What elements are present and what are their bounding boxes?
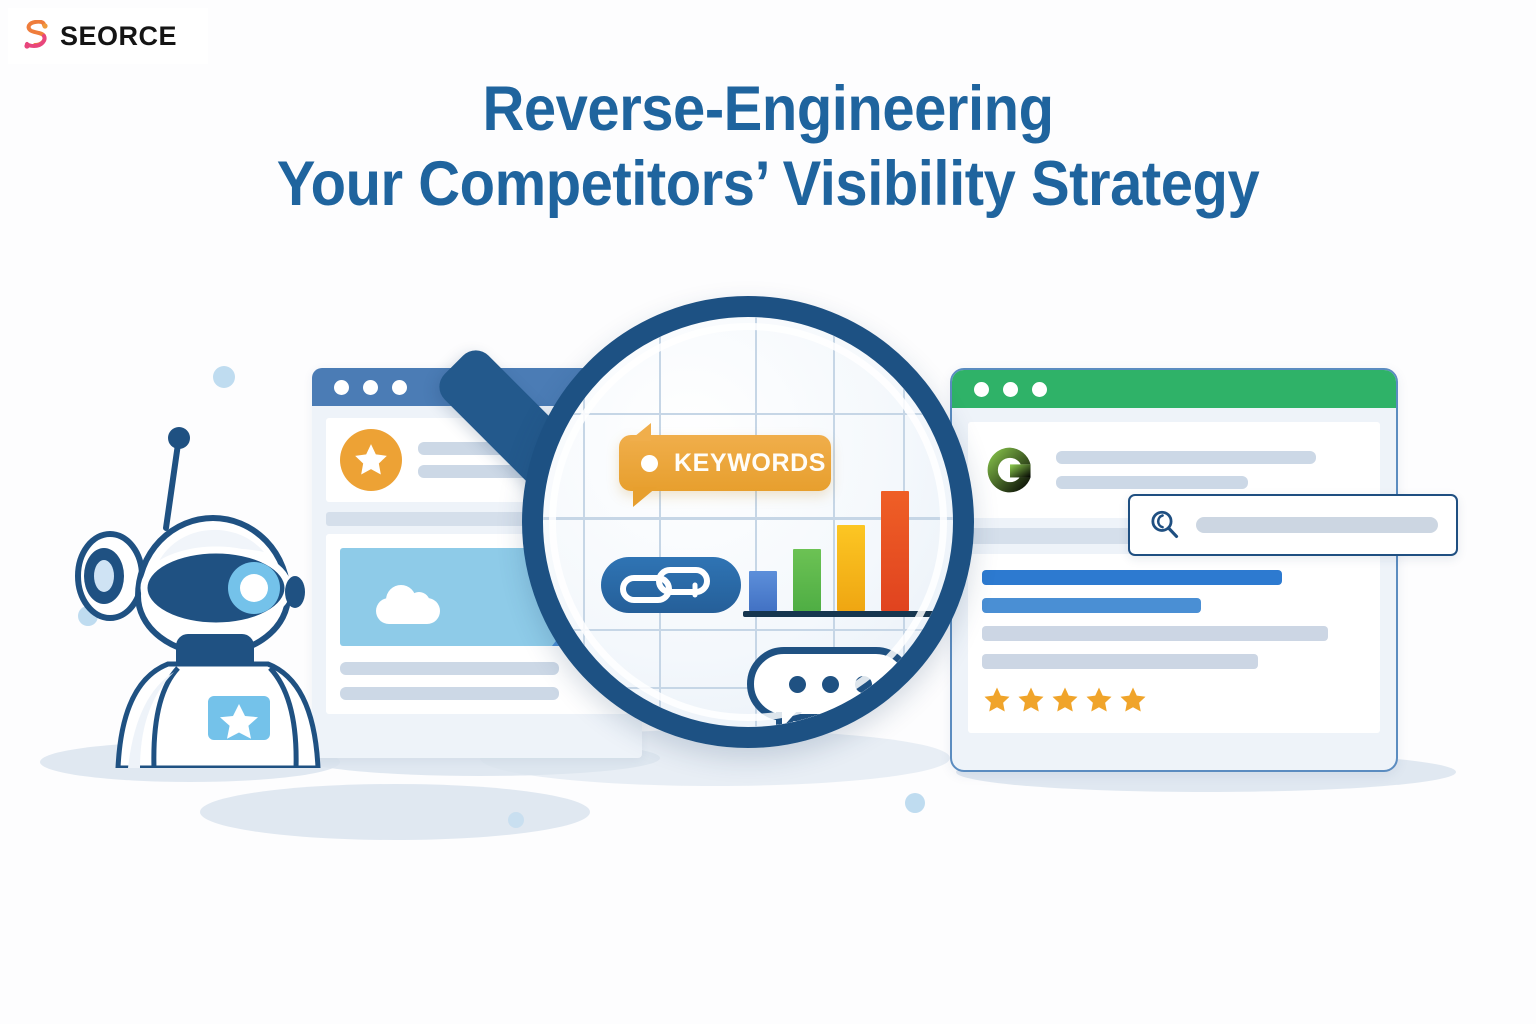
search-result-card[interactable] <box>968 554 1380 733</box>
brand-name: SEORCE <box>60 21 177 52</box>
search-bar[interactable] <box>1128 494 1458 556</box>
search-input[interactable] <box>1196 517 1438 533</box>
cloud-shape <box>376 598 440 624</box>
window-body <box>952 408 1396 747</box>
antenna-icon <box>166 427 190 528</box>
star-icon <box>1118 685 1148 715</box>
result-snippet-line <box>982 626 1328 641</box>
decorative-dot <box>508 812 524 828</box>
window-dot[interactable] <box>392 380 407 395</box>
result-snippet-line <box>982 654 1258 669</box>
decorative-dot <box>213 366 235 388</box>
rating-stars <box>982 685 1366 715</box>
placeholder-line <box>1056 451 1316 464</box>
magnifier[interactable]: KEYWORDS <box>522 296 974 748</box>
shadow-magnifier <box>200 784 590 840</box>
seorce-s-logo-icon <box>22 20 52 52</box>
star-icon <box>982 685 1012 715</box>
illustration-canvas: SEORCE Reverse-Engineering Your Competit… <box>0 0 1536 1024</box>
star-icon <box>1016 685 1046 715</box>
brand-logo[interactable]: SEORCE <box>8 8 208 64</box>
window-dot[interactable] <box>1003 382 1018 397</box>
placeholder-line <box>1056 476 1248 489</box>
window-dot[interactable] <box>363 380 378 395</box>
star-icon <box>1050 685 1080 715</box>
result-url-line <box>982 598 1201 613</box>
seo-robot-mascot <box>58 396 358 768</box>
lens-bevel <box>549 323 947 721</box>
page-title: Reverse-Engineering Your Competitors’ Vi… <box>61 76 1474 218</box>
search-results-window[interactable] <box>950 368 1398 772</box>
page-title-line-1: Reverse-Engineering <box>61 76 1474 143</box>
magnifier-lens: KEYWORDS <box>522 296 974 748</box>
star-icon <box>1084 685 1114 715</box>
search-magnifier-icon[interactable] <box>1148 508 1182 542</box>
window-titlebar <box>952 370 1396 408</box>
window-dot[interactable] <box>1032 382 1047 397</box>
result-title-line <box>982 570 1282 585</box>
window-dot[interactable] <box>974 382 989 397</box>
google-g-icon <box>982 442 1038 498</box>
decorative-dot <box>905 793 925 813</box>
placeholder-lines <box>1056 451 1366 489</box>
window-dot[interactable] <box>334 380 349 395</box>
page-title-line-2: Your Competitors’ Visibility Strategy <box>61 151 1474 218</box>
